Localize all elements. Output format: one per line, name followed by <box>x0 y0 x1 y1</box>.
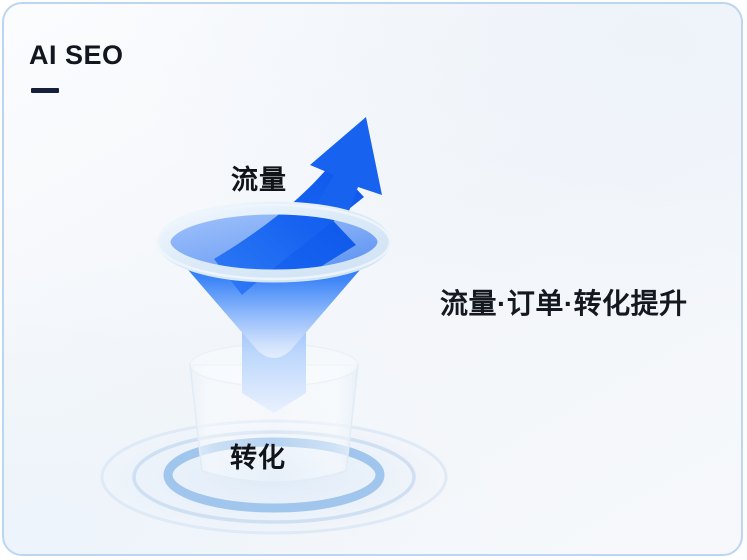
title-accent-bar <box>31 88 59 93</box>
illustration-card: AI SEO 流量·订单·转化提升 <box>2 2 743 556</box>
growth-arrow-head <box>310 117 382 219</box>
label-traffic: 流量 <box>231 158 287 197</box>
page-title: AI SEO <box>29 42 124 69</box>
label-conversion: 转化 <box>230 436 286 475</box>
